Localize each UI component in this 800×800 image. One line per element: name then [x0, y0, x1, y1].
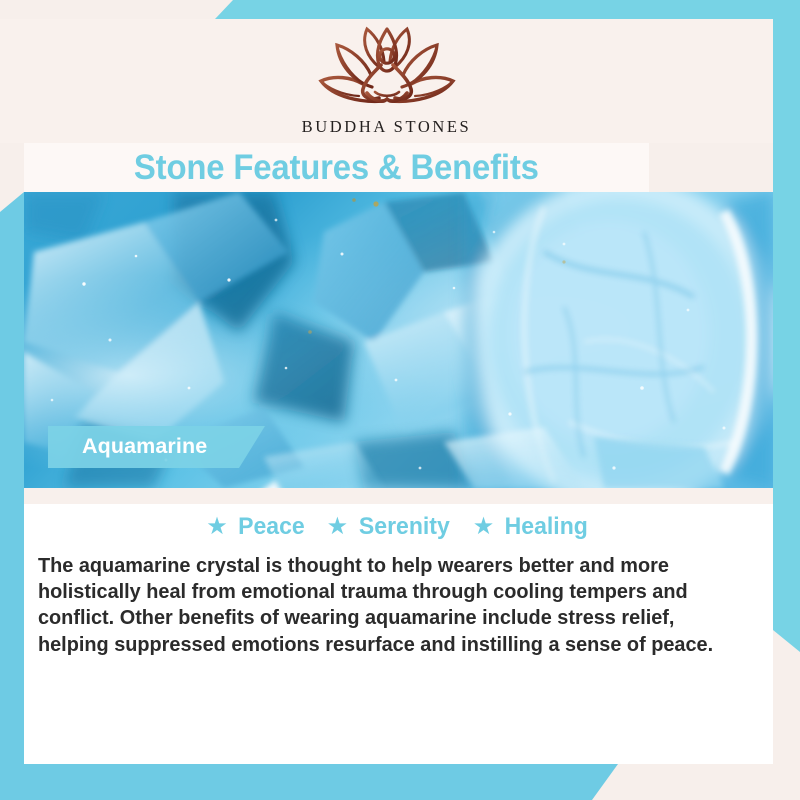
hero-crystal-image: Aquamarine — [24, 192, 773, 488]
keywords-row: ★ Peace ★ Serenity ★ Healing — [36, 515, 761, 540]
content-top-strip — [24, 488, 773, 504]
star-icon: ★ — [206, 515, 228, 539]
page-title: Stone Features & Benefits — [134, 150, 539, 185]
stone-name-label: Aquamarine — [48, 426, 265, 468]
right-accent-bar — [773, 0, 800, 652]
keyword-item: ★ Healing — [473, 515, 591, 540]
keyword-label: Healing — [505, 515, 588, 540]
stone-name-text: Aquamarine — [82, 436, 207, 458]
keyword-item: ★ Serenity — [327, 515, 453, 540]
keyword-item: ★ Peace — [206, 515, 306, 540]
left-accent-bar — [0, 192, 24, 776]
stone-description: The aquamarine crystal is thought to hel… — [36, 553, 750, 659]
top-accent-bar — [215, 0, 800, 19]
star-icon: ★ — [473, 515, 495, 539]
brand-header: BUDDHA STONES — [0, 19, 773, 143]
title-band: Stone Features & Benefits — [24, 143, 649, 192]
brand-name: BUDDHA STONES — [302, 117, 472, 137]
lotus-meditation-figure-icon — [301, 23, 473, 116]
content-panel: ★ Peace ★ Serenity ★ Healing The aquamar… — [24, 504, 773, 764]
star-icon: ★ — [327, 515, 349, 539]
keyword-label: Serenity — [359, 515, 450, 540]
keyword-label: Peace — [238, 515, 305, 540]
bottom-accent-bar — [0, 764, 618, 800]
